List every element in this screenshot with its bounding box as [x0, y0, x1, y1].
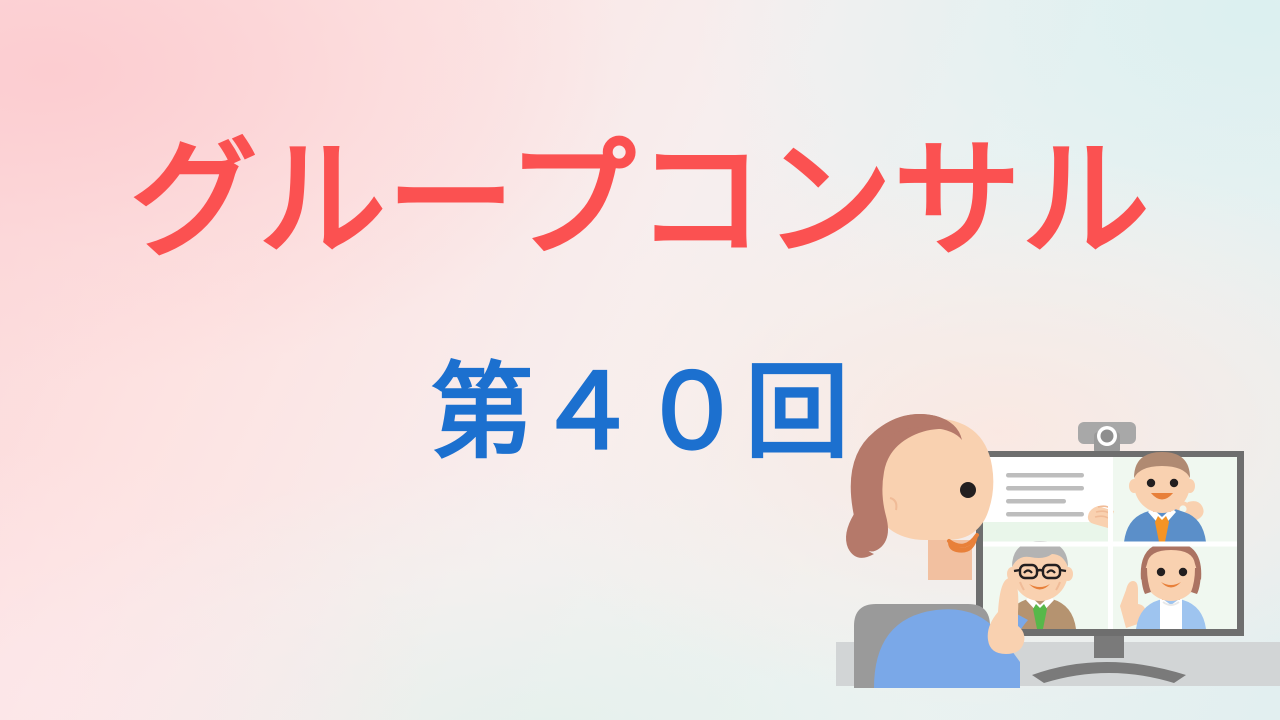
banner-canvas: グループコンサル 第４０回	[0, 0, 1280, 720]
banner-title: グループコンサル	[0, 125, 1280, 276]
webcam-icon	[1078, 422, 1136, 454]
screen-panel-woman	[1112, 542, 1237, 629]
screen-panel-document	[983, 457, 1109, 542]
online-meeting-illustration	[836, 394, 1280, 720]
